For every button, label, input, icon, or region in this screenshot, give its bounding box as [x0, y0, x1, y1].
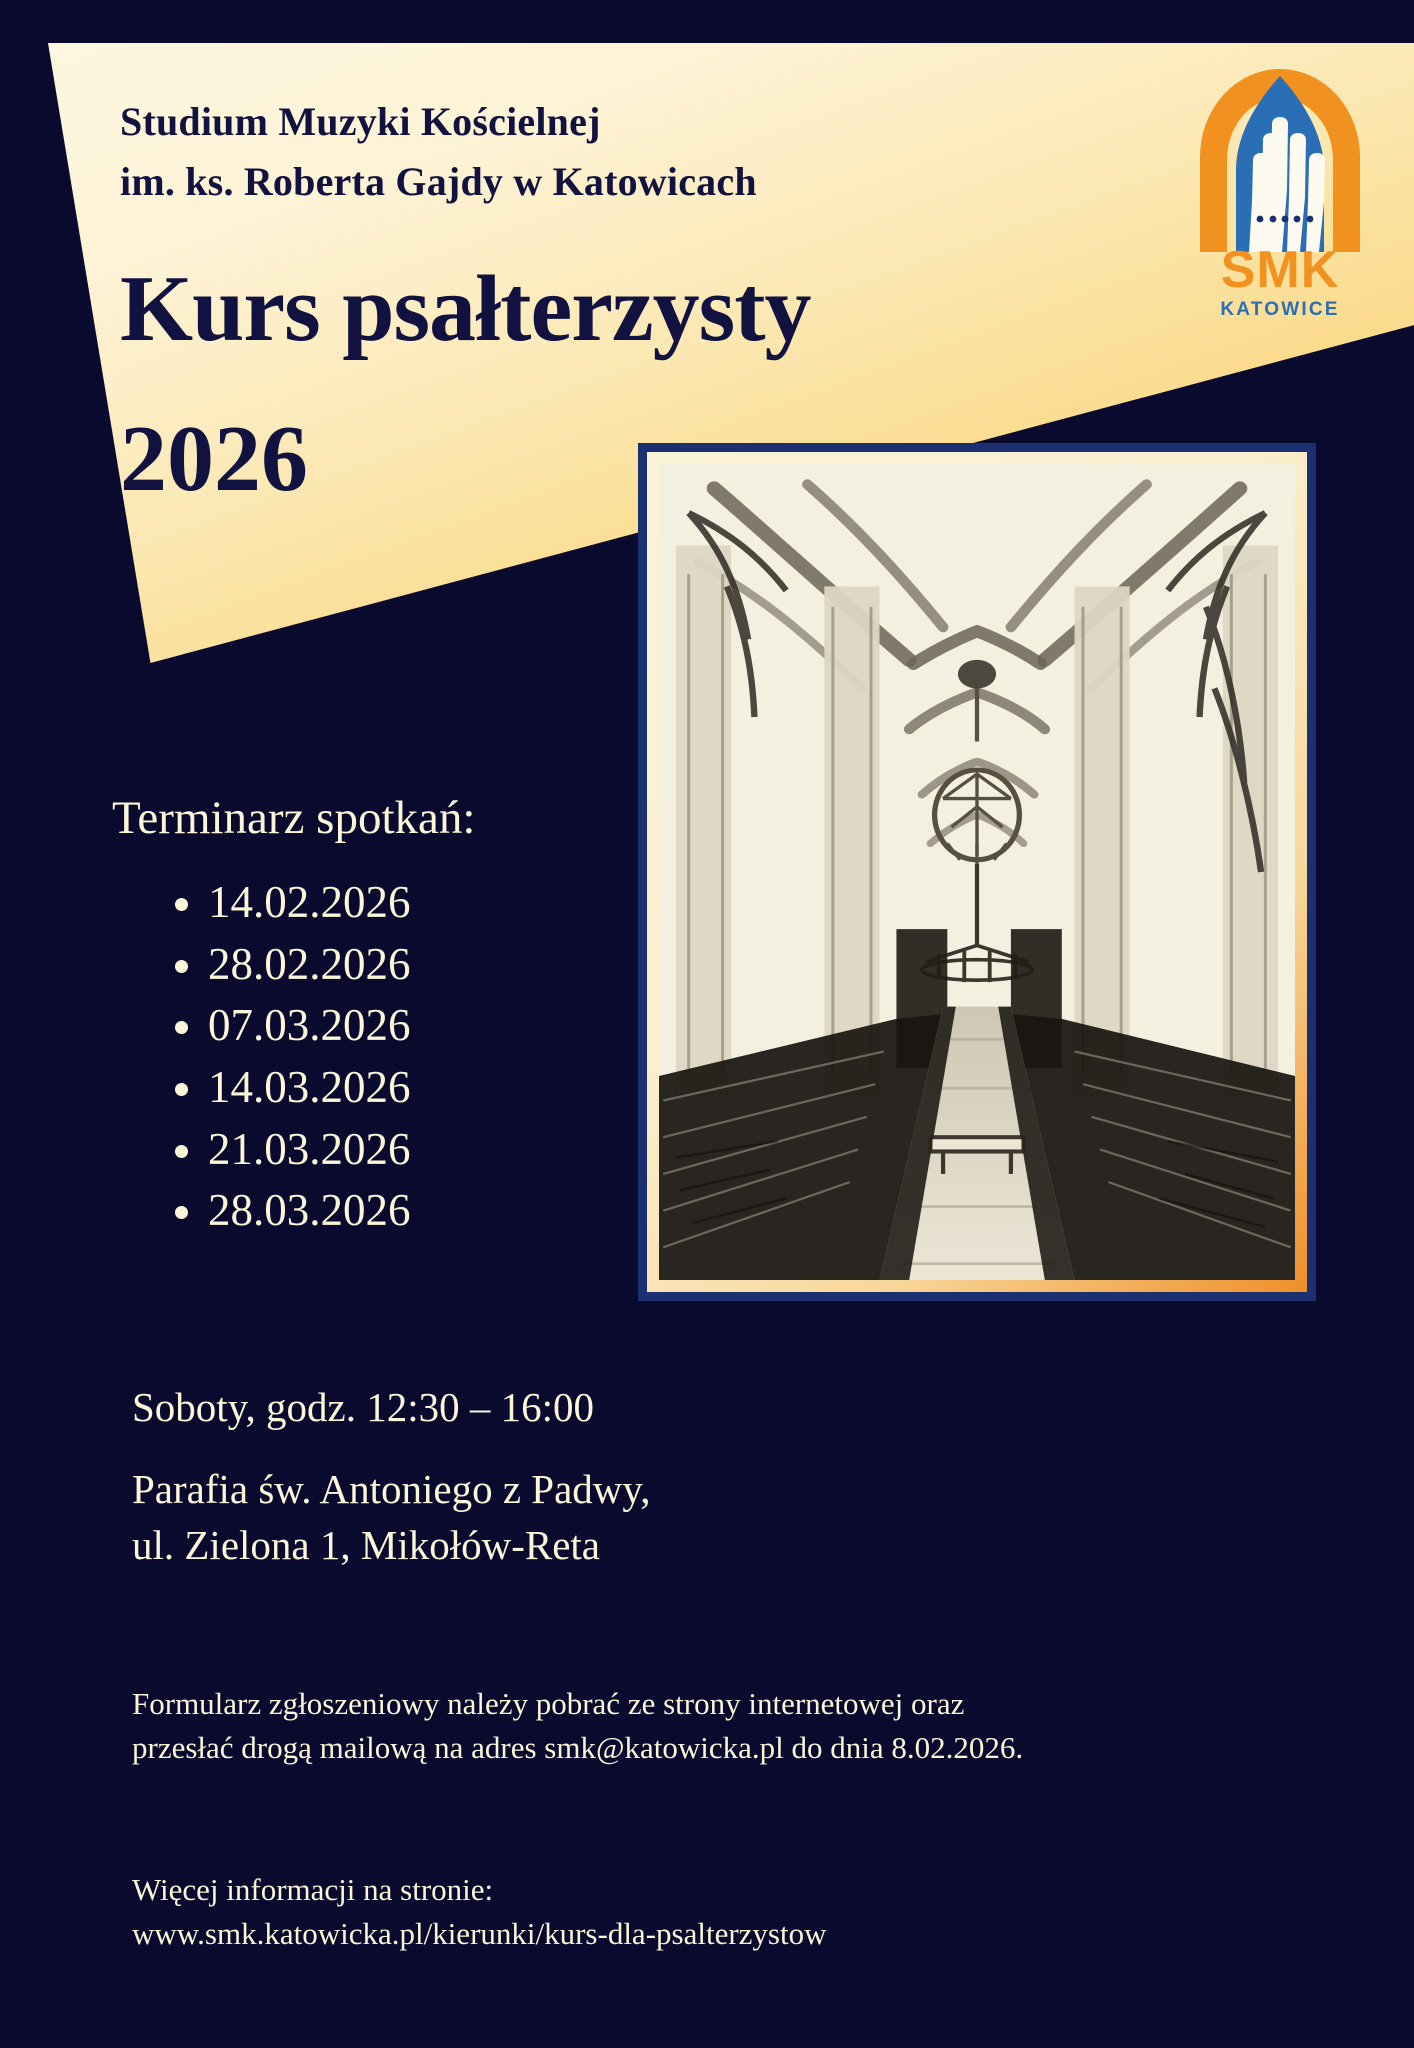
list-item: 07.03.2026	[208, 995, 411, 1057]
location-line-1: Parafia św. Antoniego z Padwy,	[132, 1462, 650, 1518]
smk-katowice-logo: SMK KATOWICE	[1190, 62, 1370, 302]
meeting-location: Parafia św. Antoniego z Padwy, ul. Zielo…	[132, 1462, 650, 1574]
page-title-year: 2026	[120, 412, 308, 506]
schedule-date: 07.03.2026	[208, 1000, 411, 1050]
page-title: Kurs psałterzysty	[120, 262, 811, 356]
schedule-date: 14.02.2026	[208, 877, 411, 927]
artwork-mat	[647, 452, 1307, 1292]
schedule-date: 21.03.2026	[208, 1124, 411, 1174]
schedule-heading: Terminarz spotkań:	[112, 795, 475, 842]
more-info: Więcej informacji na stronie: www.smk.ka…	[132, 1868, 1342, 1956]
logo-city: KATOWICE	[1190, 300, 1370, 319]
list-item: 14.02.2026	[208, 872, 411, 934]
schedule-date: 14.03.2026	[208, 1062, 411, 1112]
artwork-frame	[638, 443, 1316, 1301]
list-item: 28.03.2026	[208, 1180, 411, 1242]
registration-note-line-1: Formularz zgłoszeniowy należy pobrać ze …	[132, 1682, 1342, 1726]
location-line-2: ul. Zielona 1, Mikołów-Reta	[132, 1518, 650, 1574]
organization-line-1: Studium Muzyki Kościelnej	[120, 98, 601, 145]
poster-root: Studium Muzyki Kościelnej im. ks. Robert…	[0, 0, 1414, 2048]
schedule-date: 28.02.2026	[208, 939, 411, 989]
meeting-time: Soboty, godz. 12:30 – 16:00	[132, 1387, 594, 1428]
registration-note-line-2: przesłać drogą mailową na adres smk@kato…	[132, 1726, 1342, 1770]
list-item: 28.02.2026	[208, 934, 411, 996]
more-info-label: Więcej informacji na stronie:	[132, 1868, 1342, 1912]
registration-note: Formularz zgłoszeniowy należy pobrać ze …	[132, 1682, 1342, 1770]
list-item: 21.03.2026	[208, 1119, 411, 1181]
more-info-url[interactable]: www.smk.katowicka.pl/kierunki/kurs-dla-p…	[132, 1912, 1342, 1956]
organization-line-2: im. ks. Roberta Gajdy w Katowicach	[120, 158, 757, 205]
organ-pipes-gothic-arch-icon	[1190, 62, 1370, 252]
list-item: 14.03.2026	[208, 1057, 411, 1119]
church-interior-pencil-sketch	[659, 464, 1295, 1280]
logo-acronym: SMK	[1190, 244, 1370, 296]
schedule-list: 14.02.2026 28.02.2026 07.03.2026 14.03.2…	[150, 872, 411, 1242]
schedule-date: 28.03.2026	[208, 1185, 411, 1235]
